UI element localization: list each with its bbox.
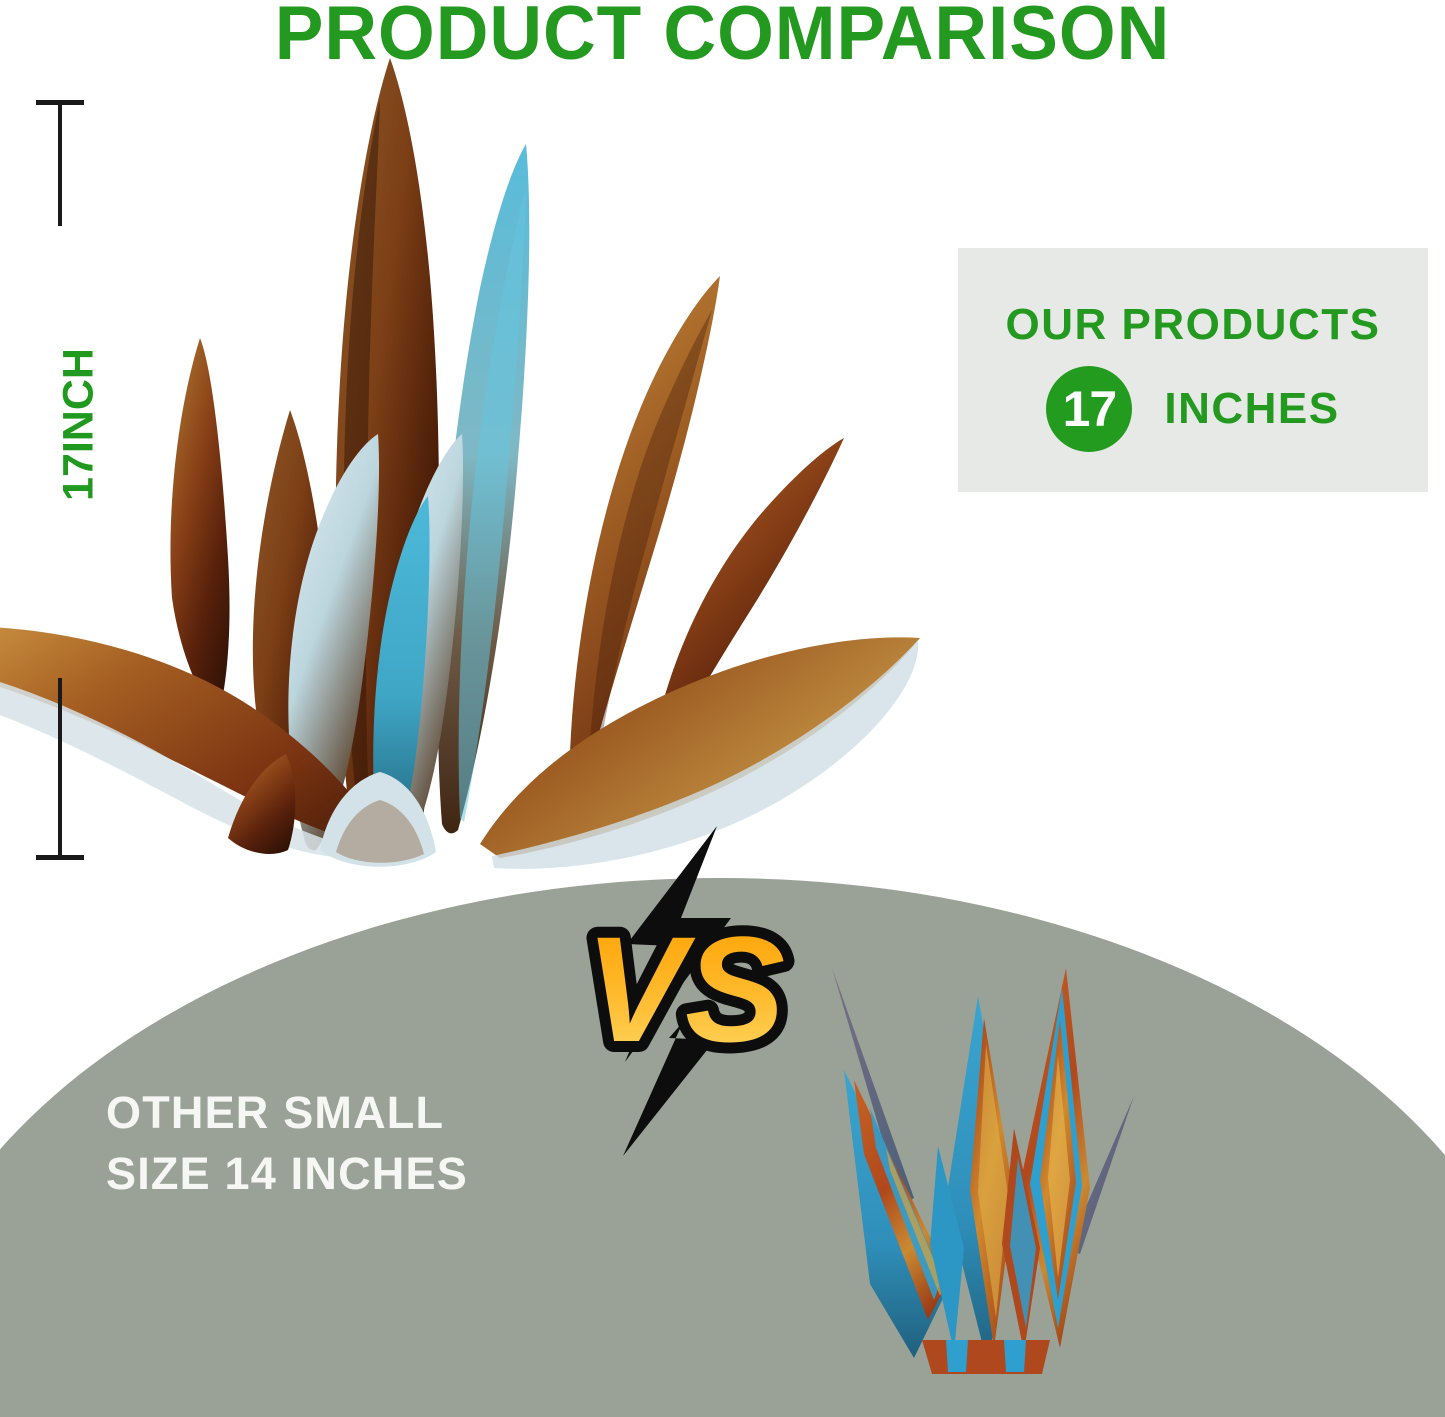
other-product-caption-line1: OTHER SMALL — [106, 1083, 468, 1144]
our-products-panel: OUR PRODUCTS 17 INCHES — [958, 248, 1428, 492]
size-badge: 17 — [1046, 366, 1132, 452]
agave-base-stripe — [1004, 1340, 1026, 1372]
ruler-upper-stem-icon — [58, 104, 62, 226]
agave-base — [922, 1340, 1050, 1374]
versus-badge: VS VS — [565, 826, 805, 1166]
dimension-ruler: 17INCH — [26, 100, 92, 860]
other-product-caption-line2: SIZE 14 INCHES — [106, 1144, 468, 1205]
our-product-image — [0, 38, 950, 878]
page-title: PRODUCT COMPARISON — [29, 0, 1416, 77]
ruler-bottom-cap-icon — [36, 855, 84, 860]
ruler-lower-stem-icon — [58, 678, 62, 856]
agave-base-stripe — [946, 1340, 968, 1372]
other-product-caption: OTHER SMALL SIZE 14 INCHES — [106, 1083, 468, 1205]
size-unit-label: INCHES — [1164, 384, 1339, 434]
our-products-size-row: 17 INCHES — [958, 366, 1428, 452]
other-product-image — [818, 948, 1148, 1378]
infographic-canvas: PRODUCT COMPARISON 17INCH — [0, 0, 1445, 1417]
our-products-heading: OUR PRODUCTS — [958, 300, 1428, 350]
agave-blade — [170, 338, 229, 720]
versus-text: VS — [585, 905, 785, 1073]
ruler-label: 17INCH — [55, 330, 104, 520]
